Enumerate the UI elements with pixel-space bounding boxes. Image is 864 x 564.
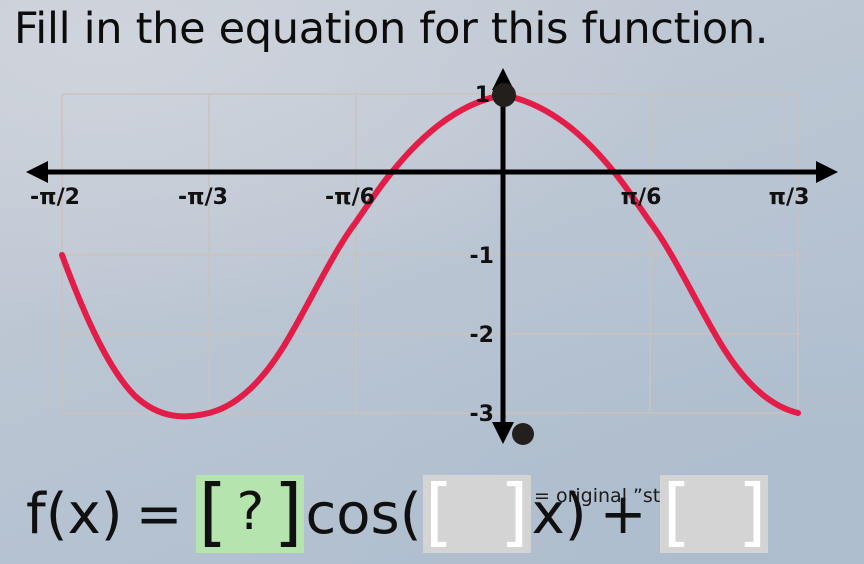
- equation-cos: cos(: [305, 482, 421, 547]
- x-axis-arrow-left: [26, 161, 48, 183]
- frequency-blank[interactable]: [ ]: [423, 475, 531, 553]
- bracket-left-icon: [: [425, 476, 454, 550]
- amplitude-blank[interactable]: [ ? ]: [196, 475, 304, 553]
- y-tick-label-neg-1: -1: [470, 244, 494, 269]
- x-axis-arrow-right: [816, 161, 838, 183]
- function-graph: -π/2 -π/3 -π/6 π/6 π/3 1 -1 -2 -3 = orig…: [0, 62, 864, 457]
- grid-lines: [62, 94, 798, 413]
- x-tick-label-pi-6: π/6: [621, 185, 662, 210]
- y-tick-label-neg-2: -2: [470, 323, 494, 348]
- bracket-right-icon: ]: [738, 476, 767, 550]
- x-axis: [26, 161, 838, 183]
- y-tick-label-1: 1: [475, 83, 490, 108]
- equation-equals-sign: =: [136, 482, 183, 547]
- page-title: Fill in the equation for this function.: [14, 0, 768, 60]
- equation-lhs: f(x): [26, 482, 123, 547]
- y-axis: [492, 68, 514, 444]
- equation-plus-sign: +: [600, 482, 647, 547]
- offset-blank[interactable]: [ ]: [660, 475, 768, 553]
- x-tick-label-pi-3: π/3: [769, 185, 810, 210]
- amplitude-blank-value: ?: [237, 486, 265, 542]
- bracket-right-icon: ]: [500, 476, 529, 550]
- equation-variable: x): [532, 482, 587, 547]
- worksheet-slide: Fill in the equation for this function.: [0, 0, 864, 564]
- bracket-left-icon: [: [198, 476, 227, 550]
- x-tick-label-neg-pi-3: -π/3: [178, 185, 228, 210]
- graph-canvas: -π/2 -π/3 -π/6 π/6 π/3 1 -1 -2 -3: [0, 62, 864, 457]
- bracket-right-icon: ]: [274, 476, 303, 550]
- bracket-left-icon: [: [662, 476, 691, 550]
- x-tick-label-neg-pi-6: -π/6: [325, 185, 375, 210]
- start-point-marker: [492, 83, 516, 107]
- x-tick-label-neg-pi-2: -π/2: [30, 185, 80, 210]
- y-axis-arrow-down: [492, 422, 514, 444]
- legend-marker-icon: [512, 423, 534, 445]
- equation-row: f(x) = [ ? ] cos( [ ] x) + [ ]: [26, 468, 769, 560]
- y-tick-label-neg-3: -3: [470, 402, 494, 427]
